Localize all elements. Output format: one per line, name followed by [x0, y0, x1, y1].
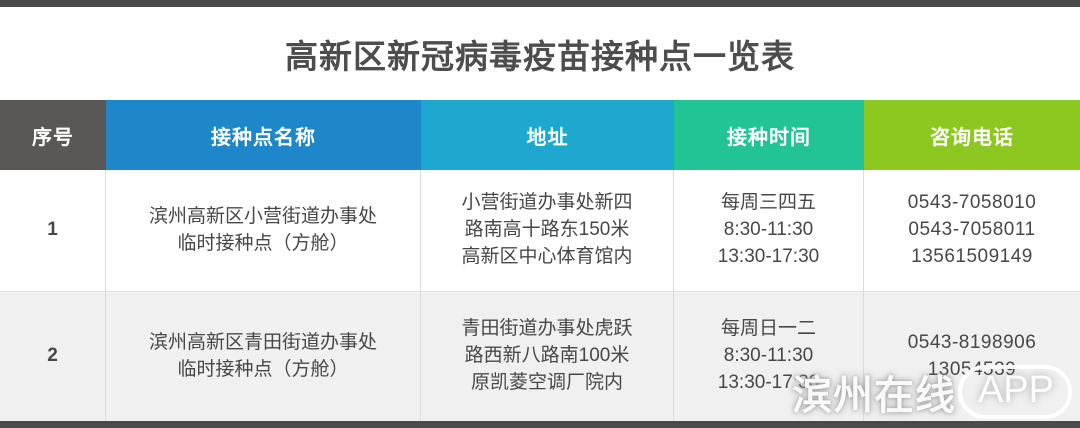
time-line: 每周三四五 — [721, 190, 816, 217]
time-line: 13:30-17:30 — [718, 244, 819, 271]
page-title: 高新区新冠病毒疫苗接种点一览表 — [0, 7, 1080, 100]
top-edge-bar — [0, 0, 1080, 7]
cell-time: 每周日一二 8:30-11:30 13:30-17:30 — [674, 292, 864, 421]
table-header-row: 序号 接种点名称 地址 接种时间 咨询电话 — [0, 100, 1080, 170]
time-line: 13:30-17:30 — [718, 370, 819, 397]
table-row: 1 滨州高新区小营街道办事处 临时接种点（方舱） 小营街道办事处新四 路南高十路… — [0, 170, 1080, 292]
phone-line: 13054539 — [928, 357, 1017, 384]
row-index-value: 2 — [47, 343, 58, 370]
phone-line: 0543-8198906 — [908, 330, 1037, 357]
site-name-line: 滨州高新区青田街道办事处 — [149, 330, 377, 357]
vaccination-sites-table: 序号 接种点名称 地址 接种时间 咨询电话 1 滨州高新区小营街道办事处 临时接… — [0, 100, 1080, 421]
time-line: 每周日一二 — [721, 316, 816, 343]
site-name-line: 滨州高新区小营街道办事处 — [149, 204, 377, 231]
phone-line: 13561509149 — [911, 244, 1033, 271]
address-line: 青田街道办事处虎跃 — [461, 316, 632, 343]
column-header-index: 序号 — [0, 100, 106, 170]
document-page: 高新区新冠病毒疫苗接种点一览表 序号 接种点名称 地址 接种时间 咨询电话 1 … — [0, 0, 1080, 428]
cell-phone: 0543-8198906 13054539 — [864, 292, 1080, 421]
address-line: 高新区中心体育馆内 — [461, 244, 632, 271]
column-header-time: 接种时间 — [674, 100, 864, 170]
site-name-line: 临时接种点（方舱） — [177, 231, 348, 258]
phone-line: 0543-7058011 — [908, 217, 1035, 244]
column-header-address: 地址 — [421, 100, 674, 170]
cell-site-name: 滨州高新区青田街道办事处 临时接种点（方舱） — [106, 292, 421, 421]
address-line: 路南高十路东150米 — [465, 217, 630, 244]
site-name-line: 临时接种点（方舱） — [177, 357, 348, 384]
address-line: 路西新八路南100米 — [465, 343, 630, 370]
cell-phone: 0543-7058010 0543-7058011 13561509149 — [864, 170, 1080, 292]
time-line: 8:30-11:30 — [724, 217, 813, 244]
address-line: 原凯菱空调厂院内 — [471, 370, 623, 397]
time-line: 8:30-11:30 — [724, 343, 813, 370]
cell-site-name: 滨州高新区小营街道办事处 临时接种点（方舱） — [106, 170, 421, 292]
cell-time: 每周三四五 8:30-11:30 13:30-17:30 — [674, 170, 864, 292]
column-header-phone: 咨询电话 — [864, 100, 1080, 170]
table-row: 2 滨州高新区青田街道办事处 临时接种点（方舱） 青田街道办事处虎跃 路西新八路… — [0, 292, 1080, 421]
phone-line: 0543-7058010 — [908, 190, 1037, 217]
address-line: 小营街道办事处新四 — [461, 190, 632, 217]
cell-index: 2 — [0, 292, 106, 421]
column-header-site-name: 接种点名称 — [106, 100, 421, 170]
cell-address: 小营街道办事处新四 路南高十路东150米 高新区中心体育馆内 — [421, 170, 674, 292]
bottom-edge-bar — [0, 421, 1080, 428]
cell-address: 青田街道办事处虎跃 路西新八路南100米 原凯菱空调厂院内 — [421, 292, 674, 421]
cell-index: 1 — [0, 170, 106, 292]
row-index-value: 1 — [47, 217, 58, 244]
